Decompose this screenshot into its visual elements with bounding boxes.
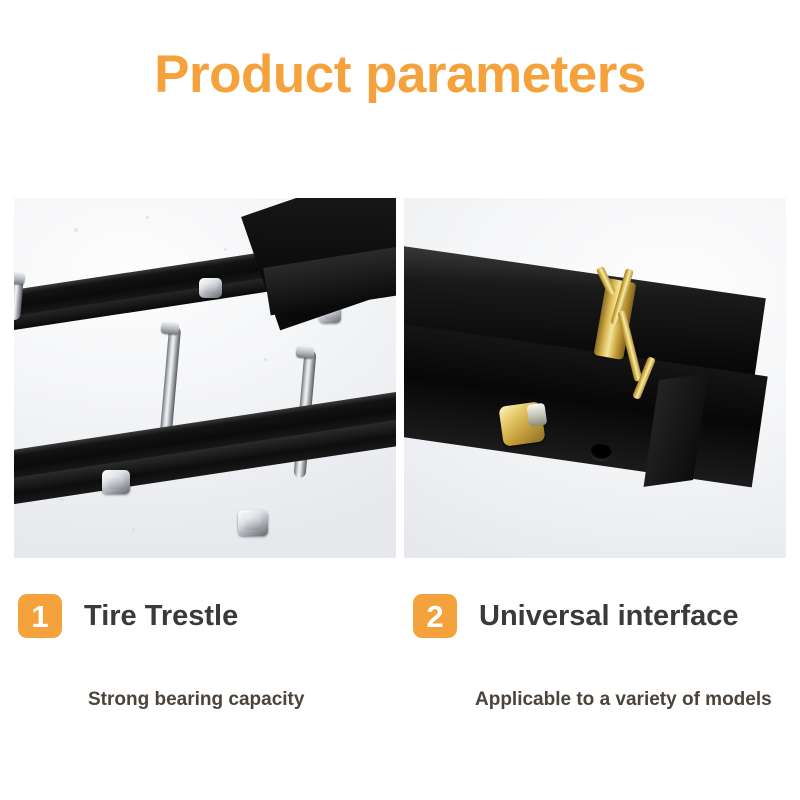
backdrop-speck	[146, 216, 149, 219]
feature-number-badge-2: 2	[413, 594, 457, 638]
page-title: Product parameters	[0, 48, 800, 101]
backdrop-speck	[74, 228, 78, 232]
chrome-rod-cap	[14, 271, 25, 285]
feature-title-2: Universal interface	[479, 600, 739, 633]
feature-caption-1: Strong bearing capacity	[88, 689, 304, 711]
feature-title-1: Tire Trestle	[84, 600, 238, 633]
hex-bolt	[238, 510, 268, 536]
feature-block-1: 1 Tire Trestle	[18, 594, 238, 638]
feature-number-badge-1: 1	[18, 594, 62, 638]
feature-block-2: 2 Universal interface	[413, 594, 739, 638]
backdrop-speck	[60, 498, 64, 501]
chrome-rod-cap	[296, 345, 315, 359]
feature-heading-2: 2 Universal interface	[413, 594, 739, 638]
feature-heading-1: 1 Tire Trestle	[18, 594, 238, 638]
product-parameters-infographic: Product parameters	[0, 0, 800, 800]
gold-bolt-head	[498, 401, 545, 446]
backdrop-speck	[132, 528, 135, 531]
hex-bolt	[102, 470, 130, 494]
tire-trestle-photo	[14, 198, 396, 558]
hex-bolt	[199, 278, 222, 298]
backdrop-speck	[224, 248, 227, 251]
photo-row	[14, 198, 786, 558]
backdrop-speck	[264, 358, 267, 361]
feature-caption-2: Applicable to a variety of models	[475, 689, 772, 711]
chrome-rod-cap	[161, 321, 180, 335]
universal-interface-photo	[404, 198, 786, 558]
